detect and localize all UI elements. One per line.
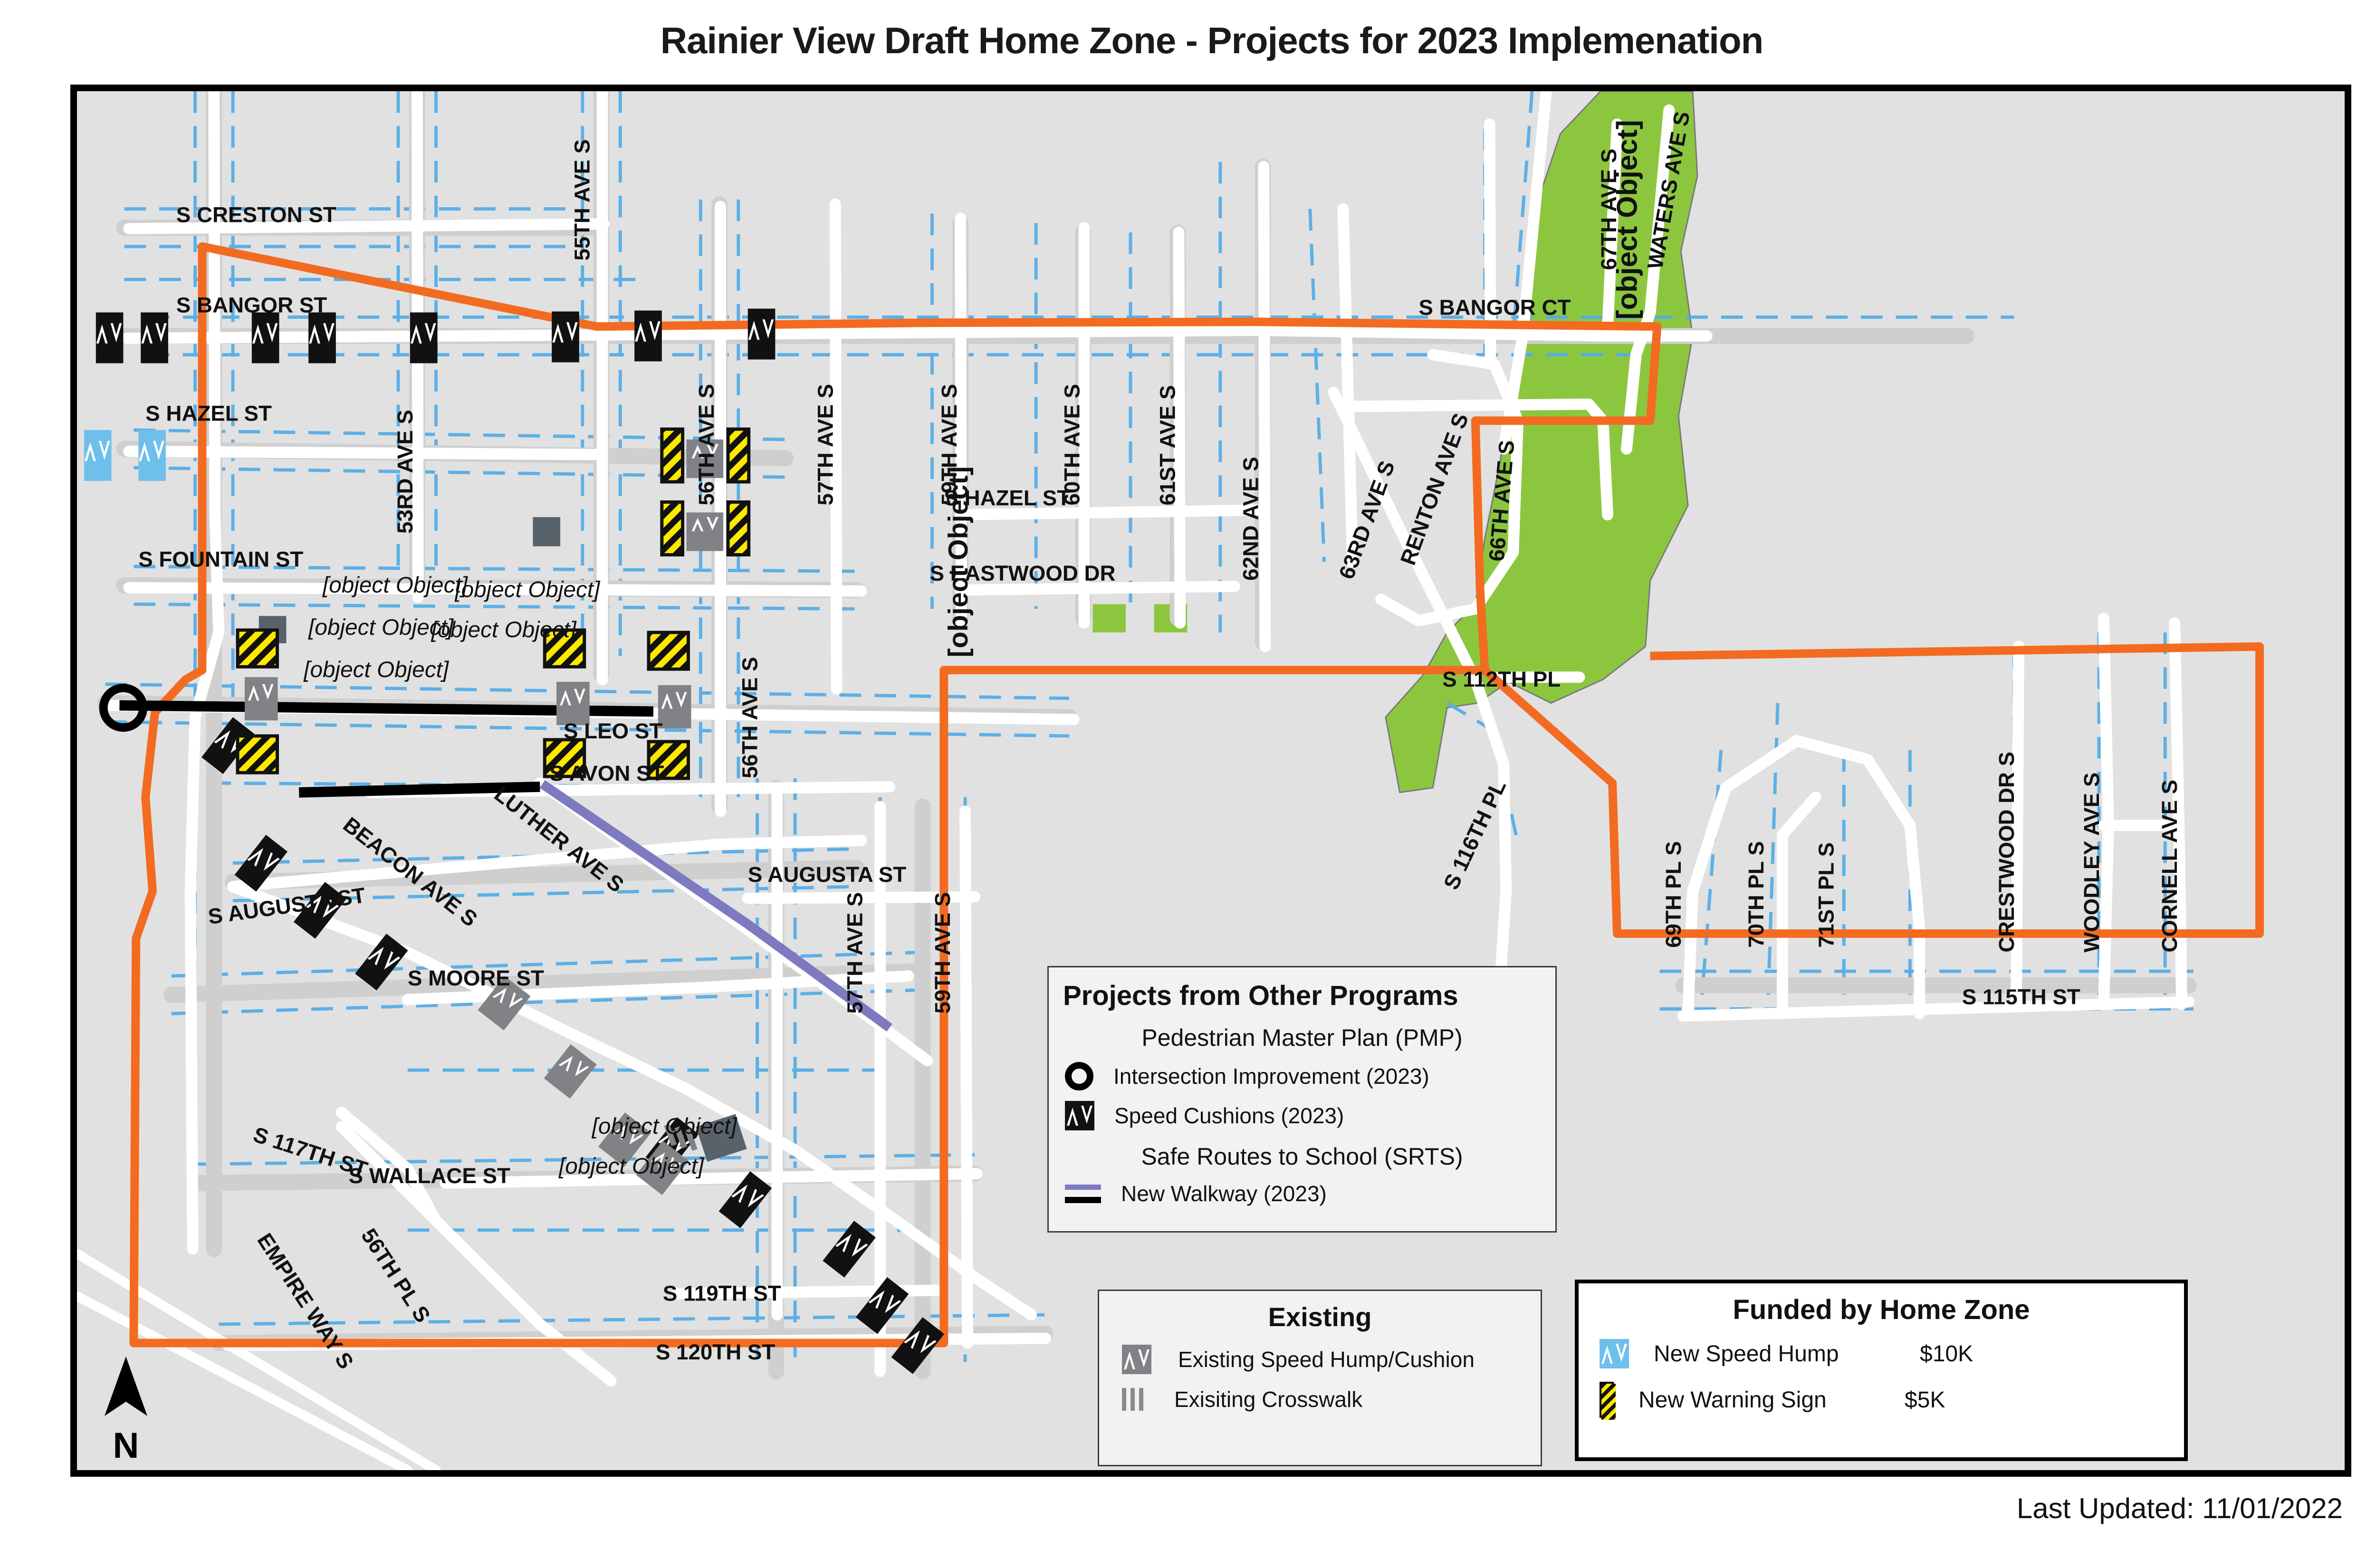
page-title: Rainier View Draft Home Zone - Projects … <box>0 19 2376 62</box>
speed-hump-blue-icon <box>1600 1339 1629 1368</box>
street-label-s-augusta-st-e: S AUGUSTA ST <box>748 862 907 887</box>
street-label-s-creston-st: S CRESTON ST <box>176 202 336 227</box>
street-label-60th-ave-s: 60TH AVE S <box>1060 384 1084 506</box>
legend-label-existing-crosswalk: Exisiting Crosswalk <box>1174 1386 1362 1412</box>
legend-funded-by-home-zone[interactable]: Funded by Home Zone New Speed Hump $10K … <box>1575 1280 2188 1461</box>
legend-label-intersection-improvement: Intersection Improvement (2023) <box>1113 1063 1429 1089</box>
street-label-70th-pl-s: 70TH PL S <box>1744 841 1768 947</box>
street-label-s-fountain-st: S FOUNTAIN ST <box>138 547 303 571</box>
street-label-crestwood-dr-s: CRESTWOOD DR S <box>1994 752 2019 953</box>
street-label-53rd-ave-s: 53RD AVE S <box>393 410 417 534</box>
legend-title-funded-by-home-zone: Funded by Home Zone <box>1579 1294 2184 1326</box>
legend-cost-new-speed-hump: $10K <box>1920 1341 1973 1367</box>
map-frame[interactable]: S CRESTON ST S BANGOR ST S HAZEL ST S FO… <box>70 85 2351 1477</box>
speed-cushion-black-icon <box>1065 1101 1094 1130</box>
street-label-57th-ave-s-n: 57TH AVE S <box>814 384 838 506</box>
speed-hump-gray-icon <box>1122 1345 1151 1374</box>
street-label-woodley-ave-s: WOODLEY AVE S <box>2079 773 2104 953</box>
place-label-garden: [object Object] <box>303 657 450 682</box>
place-label-rainier-view: [object Object] <box>592 1114 738 1139</box>
north-arrow-label: N <box>97 1428 154 1464</box>
legend-projects-from-other-programs[interactable]: Projects from Other Programs Pedestrian … <box>1047 966 1557 1233</box>
map-canvas[interactable]: S CRESTON ST S BANGOR ST S HAZEL ST S FO… <box>77 91 2345 1470</box>
legend-item-new-warning-sign[interactable]: New Warning Sign $5K <box>1579 1382 2184 1418</box>
legend-title-other-programs: Projects from Other Programs <box>1063 980 1555 1012</box>
intersection-improvement-circle-icon <box>1065 1062 1093 1090</box>
legend-item-new-walkway[interactable]: New Walkway (2023) <box>1049 1181 1555 1206</box>
crosswalk-bars-icon <box>1122 1388 1148 1411</box>
place-label-st-lukes: [object Object] <box>454 577 601 602</box>
street-label-s-hazel-st-w: S HAZEL ST <box>145 401 272 425</box>
place-label-rv: [object Object] <box>322 573 469 598</box>
street-label-s-moore-st: S MOORE ST <box>408 966 544 990</box>
street-label-s-120th-st: S 120TH ST <box>656 1340 776 1364</box>
place-label-p-patch: [object Object] <box>308 615 454 640</box>
street-label-71st-pl-s: 71ST PL S <box>1814 842 1838 948</box>
street-label-s-leo-st: S LEO ST <box>564 719 662 743</box>
legend-item-existing-speed-hump[interactable]: Existing Speed Hump/Cushion <box>1099 1345 1541 1374</box>
street-label-s-bangor-ct: S BANGOR CT <box>1418 296 1571 320</box>
legend-item-intersection-improvement[interactable]: Intersection Improvement (2023) <box>1049 1062 1555 1090</box>
street-label-57th-ave-s-s: 57TH AVE S <box>843 892 867 1014</box>
street-label-s-115th-st: S 115TH ST <box>1962 985 2080 1009</box>
street-label-56th-ave-s-s: 56TH AVE S <box>738 657 762 778</box>
legend-label-new-warning-sign: New Warning Sign <box>1638 1387 1905 1413</box>
street-label-s-bangor-st: S BANGOR ST <box>176 293 327 317</box>
place-label-elementary-school: [object Object] <box>558 1154 705 1179</box>
street-label-62nd-ave-s: 62ND AVE S <box>1238 457 1263 581</box>
street-label-55th-ave-s: 55TH AVE S <box>570 139 594 261</box>
place-label-lakeridge-park-line1: [object Object] <box>943 466 974 657</box>
last-updated-text: Last Updated: 11/01/2022 <box>2017 1492 2343 1525</box>
street-label-s-wallace-st: S WALLACE ST <box>349 1164 510 1188</box>
legend-label-speed-cushions: Speed Cushions (2023) <box>1114 1103 1344 1128</box>
north-arrow-icon <box>97 1354 154 1425</box>
legend-label-existing-speed-hump: Existing Speed Hump/Cushion <box>1178 1347 1475 1372</box>
new-walkway-line-icon <box>1065 1184 1101 1204</box>
legend-label-new-speed-hump: New Speed Hump <box>1654 1341 1920 1367</box>
legend-subtitle-srts: Safe Routes to School (SRTS) <box>1049 1143 1555 1170</box>
legend-label-new-walkway: New Walkway (2023) <box>1121 1181 1327 1206</box>
street-label-56th-ave-s-n: 56TH AVE S <box>694 384 719 506</box>
legend-item-existing-crosswalk[interactable]: Exisiting Crosswalk <box>1099 1386 1541 1412</box>
street-label-69th-pl-s: 69TH PL S <box>1661 841 1686 947</box>
street-label-59th-ave-s-s: 59TH AVE S <box>930 892 955 1014</box>
street-label-s-112th-pl: S 112TH PL <box>1442 667 1561 691</box>
legend-item-speed-cushions[interactable]: Speed Cushions (2023) <box>1049 1101 1555 1130</box>
street-label-s-119th-st: S 119TH ST <box>663 1281 781 1306</box>
warning-sign-yellow-icon <box>1600 1382 1614 1418</box>
street-label-cornell-ave-s: CORNELL AVE S <box>2157 780 2182 953</box>
legend-item-new-speed-hump[interactable]: New Speed Hump $10K <box>1579 1339 2184 1368</box>
lakeridge-park-label: [object Object] <box>1612 243 1643 319</box>
legend-existing[interactable]: Existing Existing Speed Hump/Cushion Exi… <box>1098 1290 1542 1466</box>
street-label-61st-ave-s: 61ST AVE S <box>1155 385 1179 505</box>
legend-cost-new-warning-sign: $5K <box>1905 1387 1945 1413</box>
street-label-s-avon-st: S AVON ST <box>549 761 664 785</box>
legend-subtitle-pmp: Pedestrian Master Plan (PMP) <box>1049 1024 1555 1052</box>
legend-title-existing: Existing <box>1099 1301 1541 1332</box>
north-arrow: N <box>97 1354 154 1464</box>
